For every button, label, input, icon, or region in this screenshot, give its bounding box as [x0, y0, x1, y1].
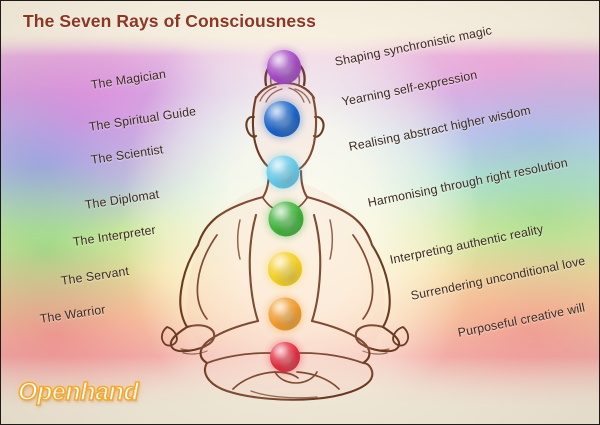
chakra-orb-crown[interactable]: [267, 50, 301, 84]
openhand-logo[interactable]: Openhand: [18, 378, 138, 407]
chakra-orb-sacral[interactable]: [269, 298, 302, 331]
poster-canvas: The Seven Rays of Consciousness The Magi…: [0, 0, 600, 425]
chakra-orb-root[interactable]: [270, 342, 300, 372]
chakra-orb-heart[interactable]: [269, 202, 304, 237]
chakra-orb-throat[interactable]: [267, 156, 300, 189]
page-title: The Seven Rays of Consciousness: [23, 11, 316, 32]
chakra-orb-solar-plexus[interactable]: [268, 252, 302, 286]
chakra-orb-third-eye[interactable]: [264, 101, 300, 137]
